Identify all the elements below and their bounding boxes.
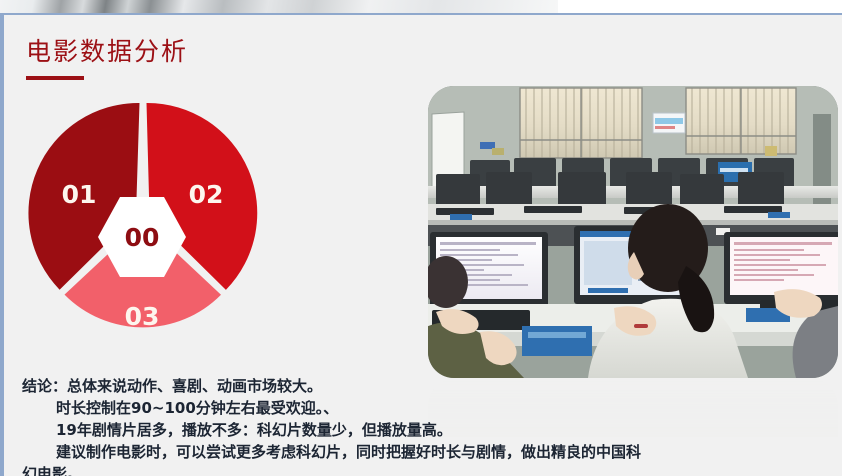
previous-slide-sliver [0, 0, 558, 13]
pie-chart-svg: 01 02 03 00 [26, 97, 258, 347]
pie-label-01: 01 [62, 180, 97, 209]
conclusion-line-2: 时长控制在90~100分钟左右最受欢迎。、 [22, 397, 832, 419]
conclusion-line-5: 幻电影。 [22, 463, 832, 476]
pie-center-label: 00 [125, 223, 160, 252]
slide-canvas: 电影数据分析 01 02 03 00 [0, 13, 842, 476]
title-underline-rule [26, 76, 84, 80]
conclusion-line-4: 建议制作电影时，可以尝试更多考虑科幻片，同时把握好时长与剧情，做出精良的中国科 [22, 441, 832, 463]
title-block: 电影数据分析 [26, 32, 188, 80]
computer-lab-photo-svg [428, 86, 838, 378]
computer-lab-photo [428, 86, 838, 378]
conclusion-text: 结论：总体来说动作、喜剧、动画市场较大。 时长控制在90~100分钟左右最受欢迎… [22, 375, 832, 476]
page-title: 电影数据分析 [26, 32, 188, 68]
conclusion-line-3: 19年剧情片居多，播放不多：科幻片数量少，但播放量高。 [22, 419, 832, 441]
pie-label-03: 03 [125, 302, 160, 331]
pie-chart: 01 02 03 00 [26, 97, 258, 347]
pie-label-02: 02 [189, 180, 224, 209]
conclusion-line-1: 结论：总体来说动作、喜剧、动画市场较大。 [22, 375, 832, 397]
